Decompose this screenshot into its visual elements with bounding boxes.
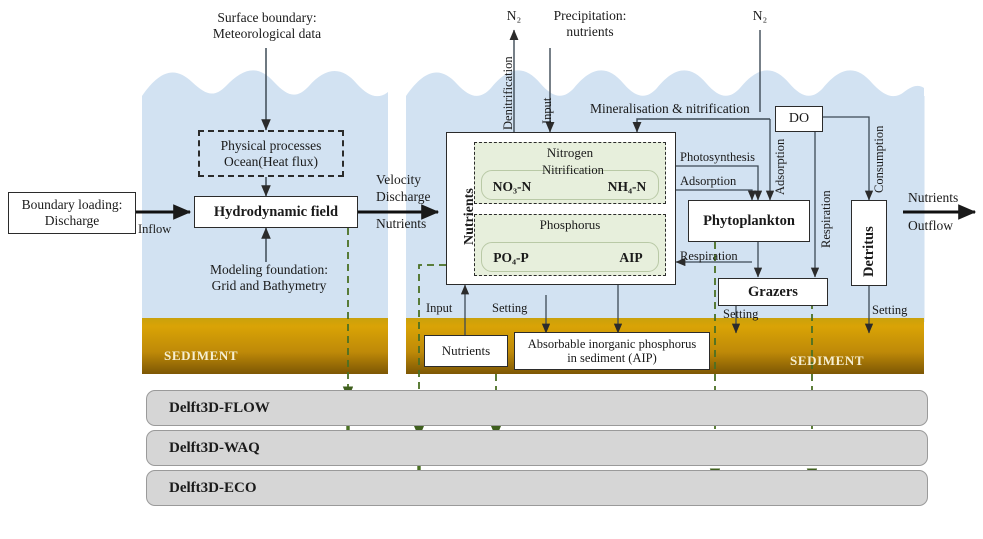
- sediment-band-left: [142, 318, 388, 374]
- software-bar-flow[interactable]: Delft3D-FLOW: [146, 390, 928, 426]
- sediment-label-left: SEDIMENT: [164, 348, 238, 364]
- no3-n-label: NO₃-N: [484, 179, 540, 195]
- software-bar-eco[interactable]: Delft3D-ECO: [146, 470, 928, 506]
- nitrogen-title: Nitrogen: [474, 145, 666, 160]
- nitrification-label: Nitrification: [520, 163, 626, 178]
- detritus-label: Detritus: [862, 226, 878, 277]
- transfer-nutrients-label: Nutrients: [376, 216, 452, 232]
- respiration-vertical-label: Respiration: [820, 190, 834, 248]
- surface-boundary-label: Surface boundary: Meteorological data: [196, 10, 338, 42]
- adsorption-vertical-label: Adsorption: [774, 139, 788, 195]
- transfer-velocity-label: Velocity: [376, 172, 446, 188]
- software-bar-flow-label: Delft3D-FLOW: [147, 400, 270, 417]
- physical-processes-box: Physical processes Ocean(Heat flux): [198, 130, 344, 177]
- respiration-label: Respiration: [680, 249, 772, 264]
- boundary-loading-box: Boundary loading: Discharge: [8, 192, 136, 234]
- n2-right-label: N₂: [742, 8, 778, 24]
- diagram-canvas: Surface boundary: Meteorological data Ph…: [0, 0, 983, 539]
- do-box: DO: [775, 106, 823, 132]
- hydrodynamic-field-box: Hydrodynamic field: [194, 196, 358, 228]
- software-bar-waq-label: Delft3D-WAQ: [147, 440, 260, 457]
- precipitation-label: Precipitation: nutrients: [534, 8, 646, 40]
- modeling-foundation-label: Modeling foundation: Grid and Bathymetry: [196, 262, 342, 294]
- sediment-label-right: SEDIMENT: [790, 353, 864, 369]
- nutrients-outflow-top-label: Nutrients: [908, 190, 983, 206]
- inflow-label: Inflow: [138, 222, 198, 237]
- transfer-discharge-label: Discharge: [376, 189, 452, 205]
- software-bar-waq[interactable]: Delft3D-WAQ: [146, 430, 928, 466]
- denitrification-label: Denitrification: [502, 56, 516, 130]
- adsorption-label: Adsorption: [680, 174, 772, 189]
- aip-label: AIP: [608, 250, 654, 266]
- input-bottom-label: Input: [426, 301, 478, 316]
- po4-p-label: PO₄-P: [484, 250, 538, 266]
- setting-label-2: Setting: [723, 307, 783, 322]
- setting-label-3: Setting: [872, 303, 932, 318]
- n2-left-label: N₂: [496, 8, 532, 24]
- software-bar-eco-label: Delft3D-ECO: [147, 480, 256, 497]
- nutrients-outflow-bottom-label: Outflow: [908, 218, 983, 234]
- consumption-vertical-label: Consumption: [873, 126, 887, 193]
- phytoplankton-box: Phytoplankton: [688, 200, 810, 242]
- input-top-label: Input: [541, 98, 555, 124]
- nh4-n-label: NH₄-N: [598, 179, 656, 195]
- photosynthesis-label: Photosynthesis: [680, 150, 788, 165]
- sediment-nutrients-box: Nutrients: [424, 335, 508, 367]
- setting-label-1: Setting: [492, 301, 552, 316]
- grazers-box: Grazers: [718, 278, 828, 306]
- sediment-aip-box: Absorbable inorganic phosphorus in sedim…: [514, 332, 710, 370]
- mineralisation-nitrification-label: Mineralisation & nitrification: [590, 101, 802, 117]
- phosphorus-title: Phosphorus: [474, 217, 666, 232]
